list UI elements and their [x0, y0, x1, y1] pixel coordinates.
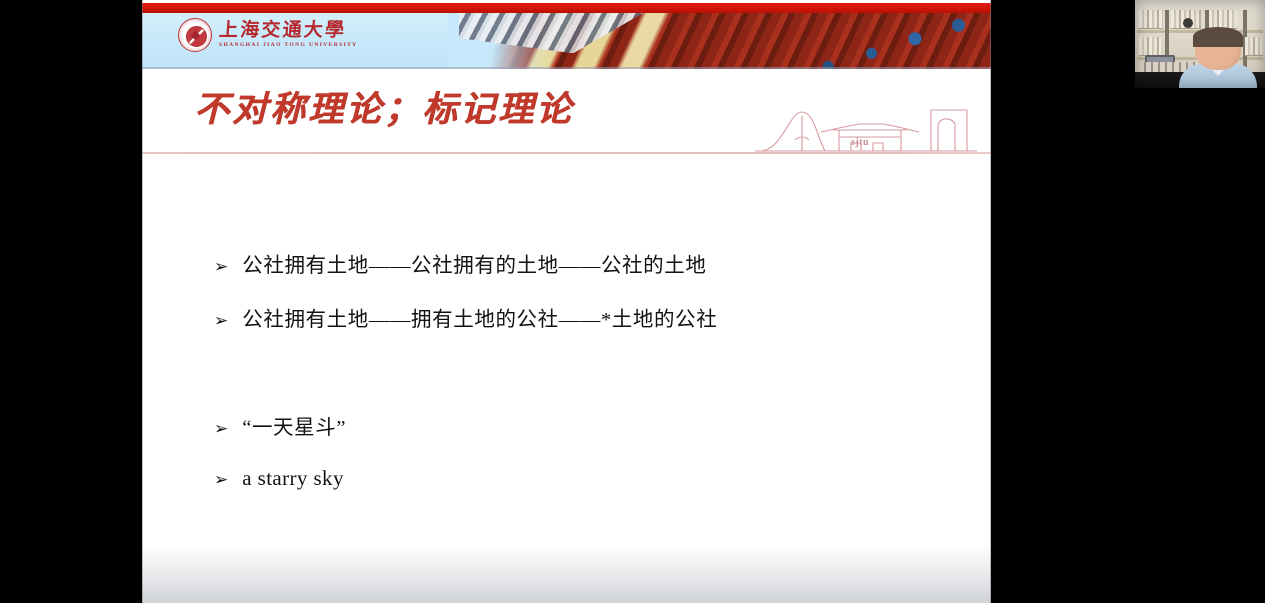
list-item: ➢ “一天星斗” — [214, 410, 346, 440]
slide-body: ➢ 公社拥有土地——公社拥有的土地——公社的土地 ➢ 公社拥有土地——拥有土地的… — [142, 160, 991, 603]
list-item: ➢ a starry sky — [214, 466, 344, 491]
list-item-text: a starry sky — [242, 466, 344, 491]
list-item-text: 公社拥有土地——公社拥有的土地——公社的土地 — [242, 248, 706, 278]
list-item: ➢ 公社拥有土地——公社拥有的土地——公社的土地 — [214, 248, 706, 278]
bullet-arrow-icon: ➢ — [214, 472, 228, 489]
campus-lineart-decoration: sjtu — [755, 96, 977, 154]
logo-name-en: SHANGHAI JIAO TONG UNIVERSITY — [219, 43, 358, 49]
list-item-text: 公社拥有土地——拥有土地的公社——*土地的公社 — [242, 302, 717, 332]
university-logo: 上海交通大學 SHANGHAI JIAO TONG UNIVERSITY — [178, 18, 358, 52]
logo-wordmark: 上海交通大學 SHANGHAI JIAO TONG UNIVERSITY — [219, 21, 358, 49]
page-title: 不对称理论；标记理论 — [194, 81, 574, 132]
bullet-arrow-icon: ➢ — [214, 421, 228, 438]
video-call-stage: 上海交通大學 SHANGHAI JIAO TONG UNIVERSITY 不对称… — [0, 0, 1265, 603]
slide-accent-bar — [142, 3, 991, 13]
thumbnail-vignette — [1135, 0, 1265, 88]
slide-canvas: 上海交通大學 SHANGHAI JIAO TONG UNIVERSITY 不对称… — [142, 0, 991, 603]
speaker-video-thumbnail[interactable] — [1135, 0, 1265, 88]
lineart-label: sjtu — [851, 137, 869, 148]
shared-slide[interactable]: 上海交通大學 SHANGHAI JIAO TONG UNIVERSITY 不对称… — [142, 0, 991, 603]
header-photo-image — [448, 13, 991, 69]
slide-right-edge — [990, 0, 991, 603]
logo-name-cn: 上海交通大學 — [218, 21, 358, 40]
list-item-text: “一天星斗” — [242, 410, 346, 440]
bullet-arrow-icon: ➢ — [214, 313, 228, 330]
list-item: ➢ 公社拥有土地——拥有土地的公社——*土地的公社 — [214, 302, 717, 332]
bullet-arrow-icon: ➢ — [214, 259, 228, 276]
slide-left-edge — [142, 0, 143, 603]
sjtu-seal-icon — [178, 18, 212, 52]
